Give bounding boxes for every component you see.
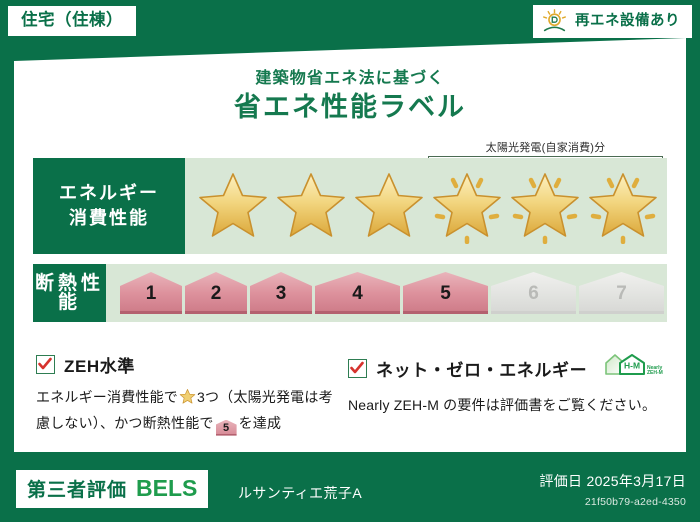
bels-label: BELS [136,475,197,502]
star-solar-icon [507,168,583,244]
energy-row-label-line2: 消費性能 [33,206,185,231]
zeh-body-part1: エネルギー消費性能で [36,389,178,405]
category-tag: 住宅（住棟） [8,6,136,36]
zeh-note-header: ZEH水準 [36,352,340,377]
check-icon [36,355,55,374]
insulation-row-label: 断熱性能 [33,264,106,322]
star-inline-icon [179,392,196,408]
energy-row-label: エネルギー 消費性能 [33,158,185,254]
building-name: ルサンティエ荒子A [238,483,362,503]
third-party-label: 第三者評価 [27,475,127,502]
net-zero-note-header: ネット・ゼロ・エネルギー H-M Nearly ZEH-M [348,352,690,385]
svg-text:ZEH-M: ZEH-M [647,370,663,376]
grade-chip: 1 [120,272,182,314]
zeh-m-logo-icon: H-M Nearly ZEH-M [602,352,664,385]
zeh-note-title: ZEH水準 [64,352,135,377]
renewable-badge-label: 再エネ設備あり [575,14,680,29]
grade-chip: 2 [185,272,247,314]
notes-section: ZEH水準 エネルギー消費性能で3つ（太陽光発電は考慮しない）、かつ断熱性能で5… [0,352,700,436]
grade-chip: 4 [315,272,400,314]
zeh-note: ZEH水準 エネルギー消費性能で3つ（太陽光発電は考慮しない）、かつ断熱性能で5… [0,352,340,436]
sun-icon [541,9,568,34]
solar-annotation-label: 太陽光発電(自家消費)分 [424,142,667,154]
star-icon [351,168,427,244]
evaluation-date: 評価日 2025年3月17日 [539,471,686,491]
energy-performance-row: エネルギー 消費性能 [33,158,667,254]
energy-performance-label: 住宅（住棟） 再エネ設備あり 建築物省エネ法に基づく 省エネ性能ラベル 太陽光発… [0,0,700,522]
energy-row-label-line1: エネルギー [33,181,185,206]
svg-text:H-M: H-M [624,361,640,371]
insulation-performance-row: 断熱性能 1 2 3 4 5 6 7 [33,264,667,322]
bels-badge: 第三者評価 BELS [16,470,208,508]
net-zero-note-title: ネット・ゼロ・エネルギー [376,356,587,381]
evaluation-id: 21f50b79-a2ed-4350 [585,496,686,508]
star-solar-icon [585,168,661,244]
energy-star-rating [185,168,667,244]
star-solar-icon [429,168,505,244]
grade-inline-icon: 5 [216,420,237,436]
net-zero-note: ネット・ゼロ・エネルギー H-M Nearly ZEH-M Nearly ZEH… [340,352,690,436]
grade-chip: 5 [403,272,488,314]
grade-chip: 3 [250,272,312,314]
zeh-body-part3: を達成 [239,415,282,431]
label-title: 省エネ性能ラベル [0,85,700,124]
insulation-grade-scale: 1 2 3 4 5 6 7 [106,272,667,314]
check-icon [348,359,367,378]
grade-chip: 7 [579,272,664,314]
star-icon [195,168,271,244]
star-icon [273,168,349,244]
grade-chip: 6 [491,272,576,314]
net-zero-note-body: Nearly ZEH-M の要件は評価書をご覧ください。 [348,394,690,417]
zeh-note-body: エネルギー消費性能で3つ（太陽光発電は考慮しない）、かつ断熱性能で5を達成 [36,386,340,436]
renewable-energy-badge: 再エネ設備あり [533,5,692,38]
